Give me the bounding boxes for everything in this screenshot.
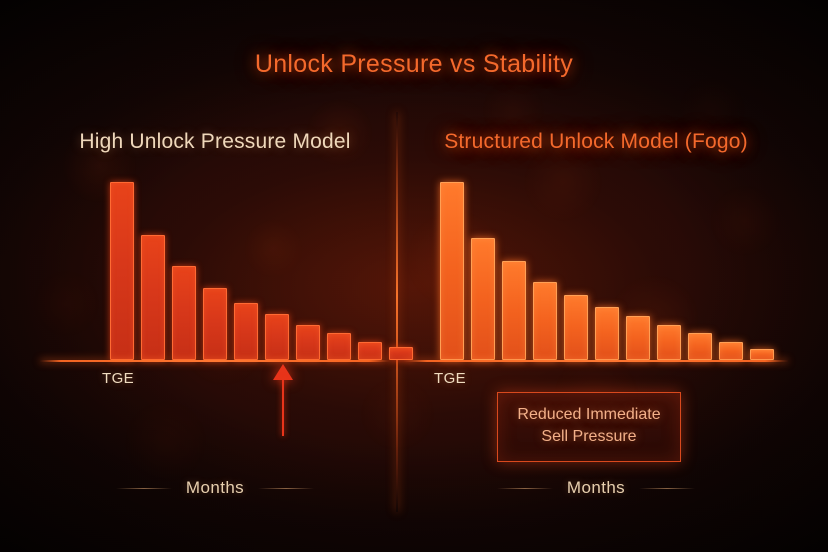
bar xyxy=(440,182,464,360)
bar xyxy=(265,314,289,360)
panel-right-heading: Structured Unlock Model (Fogo) xyxy=(404,130,788,154)
sell-pressure-arrow-left xyxy=(271,364,295,436)
caption-rule-right xyxy=(258,488,314,489)
caption-rule-left xyxy=(116,488,172,489)
bar xyxy=(502,261,526,360)
bar-chart-left xyxy=(40,184,390,360)
bar-group-left xyxy=(40,184,460,360)
axis-caption-left: Months xyxy=(40,478,390,498)
annotation-line-1: Reduced Immediate xyxy=(506,404,672,426)
bar-chart-right xyxy=(404,184,788,360)
panel-structured-unlock: Structured Unlock Model (Fogo) TGE Reduc… xyxy=(404,112,788,512)
panel-left-heading: High Unlock Pressure Model xyxy=(40,130,390,154)
caption-rule-left xyxy=(497,488,553,489)
annotation-reduced-sell-pressure: Reduced Immediate Sell Pressure xyxy=(497,392,681,462)
axis-baseline-right xyxy=(404,360,788,362)
bar xyxy=(327,333,351,360)
bar xyxy=(110,182,134,360)
axis-label-months-right: Months xyxy=(567,478,625,498)
bar xyxy=(358,342,382,360)
caption-rule-right xyxy=(639,488,695,489)
axis-baseline-left xyxy=(40,360,390,362)
bar xyxy=(471,238,495,360)
panel-high-unlock-pressure: High Unlock Pressure Model TGE Months xyxy=(40,112,390,512)
bar xyxy=(750,349,774,360)
bar xyxy=(719,342,743,360)
bar xyxy=(141,235,165,360)
tge-label-left: TGE xyxy=(102,370,134,387)
bar xyxy=(595,307,619,360)
bar xyxy=(172,266,196,360)
axis-caption-right: Months xyxy=(404,478,788,498)
bar xyxy=(234,303,258,360)
bar xyxy=(296,325,320,360)
bar xyxy=(533,282,557,360)
bar xyxy=(203,288,227,360)
arrow-shaft xyxy=(282,378,284,436)
bar xyxy=(564,295,588,360)
infographic-canvas: Unlock Pressure vs Stability High Unlock… xyxy=(0,0,828,552)
bar-group-right xyxy=(404,184,824,360)
bar xyxy=(688,333,712,360)
bar xyxy=(657,325,681,360)
annotation-line-2: Sell Pressure xyxy=(506,426,672,448)
tge-label-right: TGE xyxy=(434,370,466,387)
axis-label-months-left: Months xyxy=(186,478,244,498)
page-title: Unlock Pressure vs Stability xyxy=(0,50,828,79)
bar xyxy=(626,316,650,360)
